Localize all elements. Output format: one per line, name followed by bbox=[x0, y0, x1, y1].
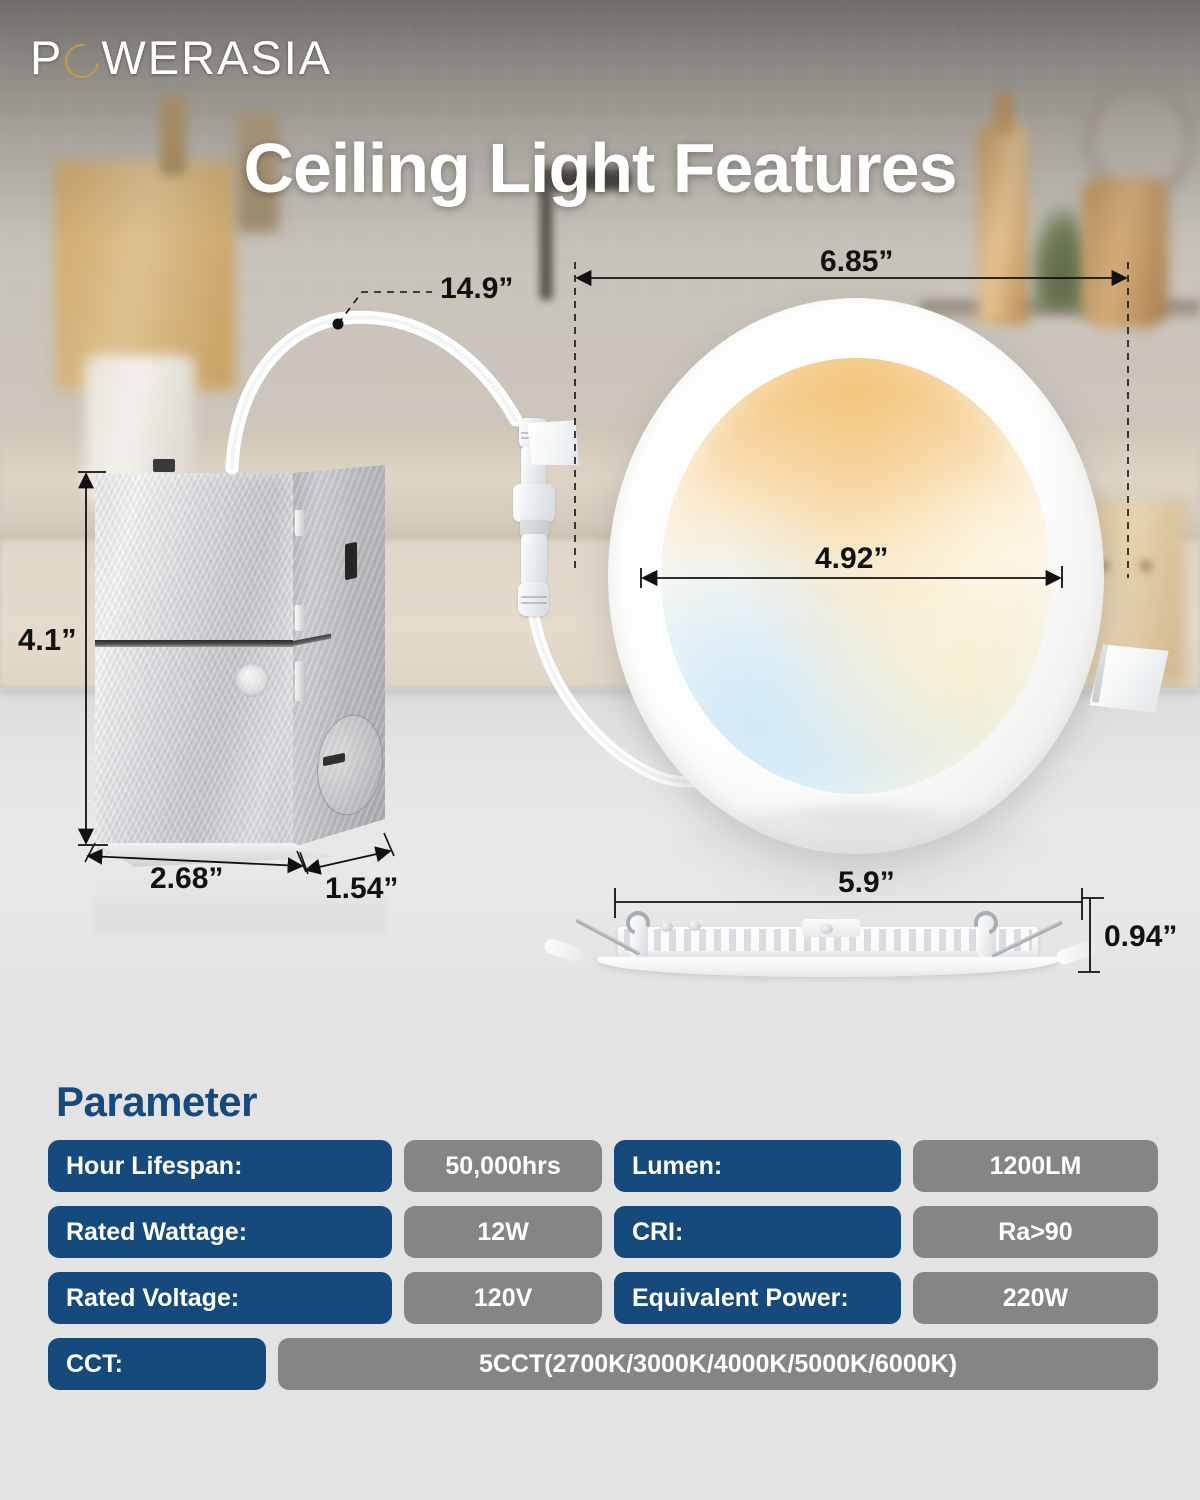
parameter-value-rated-voltage: 120V bbox=[404, 1272, 602, 1324]
dimension-label-box-height: 4.1” bbox=[18, 622, 77, 658]
parameter-value-cri: Ra>90 bbox=[913, 1206, 1158, 1258]
parameter-label-cri: CRI: bbox=[614, 1206, 901, 1258]
hero-photo-area: P WERASIA Ceiling Light Features bbox=[0, 0, 1200, 1000]
dimension-label-profile-height: 0.94” bbox=[1104, 920, 1177, 954]
dimension-label-cutout-width: 5.9” bbox=[838, 866, 895, 900]
dimension-label-box-depth: 1.54” bbox=[325, 872, 398, 906]
parameter-label-hour-lifespan: Hour Lifespan: bbox=[48, 1140, 392, 1192]
parameter-value-lumen: 1200LM bbox=[913, 1140, 1158, 1192]
parameter-label-rated-voltage: Rated Voltage: bbox=[48, 1272, 392, 1324]
parameter-label-cct: CCT: bbox=[48, 1338, 266, 1390]
parameter-value-hour-lifespan: 50,000hrs bbox=[404, 1140, 602, 1192]
dimension-annotation-lines bbox=[0, 0, 1200, 1000]
table-row: Rated Wattage: 12W CRI: Ra>90 bbox=[48, 1206, 1158, 1258]
table-row: Hour Lifespan: 50,000hrs Lumen: 1200LM bbox=[48, 1140, 1158, 1192]
parameter-value-equivalent-power: 220W bbox=[913, 1272, 1158, 1324]
product-infographic: P WERASIA Ceiling Light Features bbox=[0, 0, 1200, 1500]
parameter-table: Hour Lifespan: 50,000hrs Lumen: 1200LM R… bbox=[48, 1140, 1158, 1404]
dimension-label-box-width: 2.68” bbox=[150, 862, 223, 896]
parameter-value-cct: 5CCT(2700K/3000K/4000K/5000K/6000K) bbox=[278, 1338, 1158, 1390]
parameter-label-equivalent-power: Equivalent Power: bbox=[614, 1272, 901, 1324]
parameter-value-rated-wattage: 12W bbox=[404, 1206, 602, 1258]
parameter-label-rated-wattage: Rated Wattage: bbox=[48, 1206, 392, 1258]
table-row: Rated Voltage: 120V Equivalent Power: 22… bbox=[48, 1272, 1158, 1324]
table-row: CCT: 5CCT(2700K/3000K/4000K/5000K/6000K) bbox=[48, 1338, 1158, 1390]
dimension-label-lens-diameter: 4.92” bbox=[815, 542, 888, 576]
parameter-label-lumen: Lumen: bbox=[614, 1140, 901, 1192]
dimension-label-cord-length: 14.9” bbox=[440, 272, 513, 306]
parameter-heading: Parameter bbox=[56, 1078, 257, 1126]
dimension-label-outer-diameter: 6.85” bbox=[820, 245, 893, 279]
